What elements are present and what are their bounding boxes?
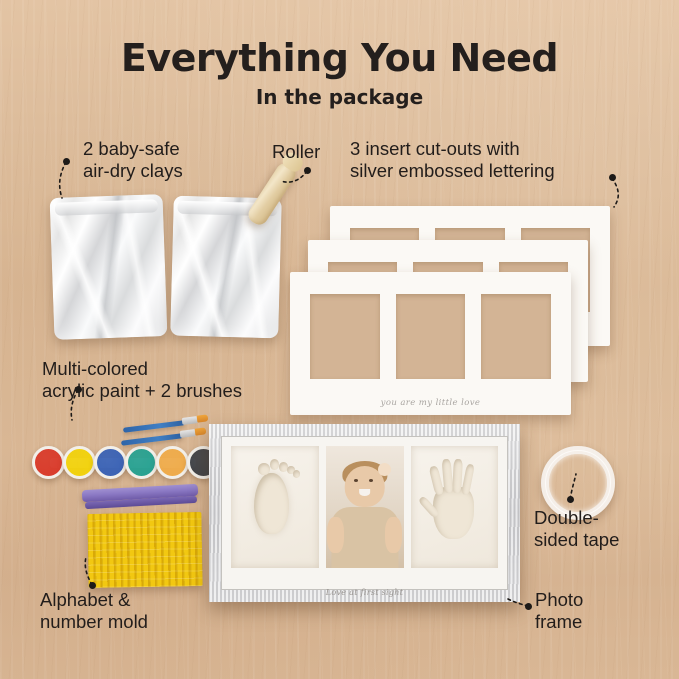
infographic-canvas: Everything You Need In the package Bundl… (0, 0, 679, 679)
leader-alphabet (85, 557, 92, 585)
leader-paint (71, 390, 78, 420)
leader-clays (60, 162, 66, 198)
leader-dot-roller (304, 167, 311, 174)
leader-dot-inserts (609, 174, 616, 181)
leader-lines (0, 0, 679, 679)
leader-dot-alphabet (89, 582, 96, 589)
leader-inserts (612, 178, 618, 207)
leader-dot-tape (567, 496, 574, 503)
leader-roller (281, 171, 307, 182)
leader-dot-clays (63, 158, 70, 165)
leader-dot-photo (525, 603, 532, 610)
leader-dot-paint (75, 386, 82, 393)
